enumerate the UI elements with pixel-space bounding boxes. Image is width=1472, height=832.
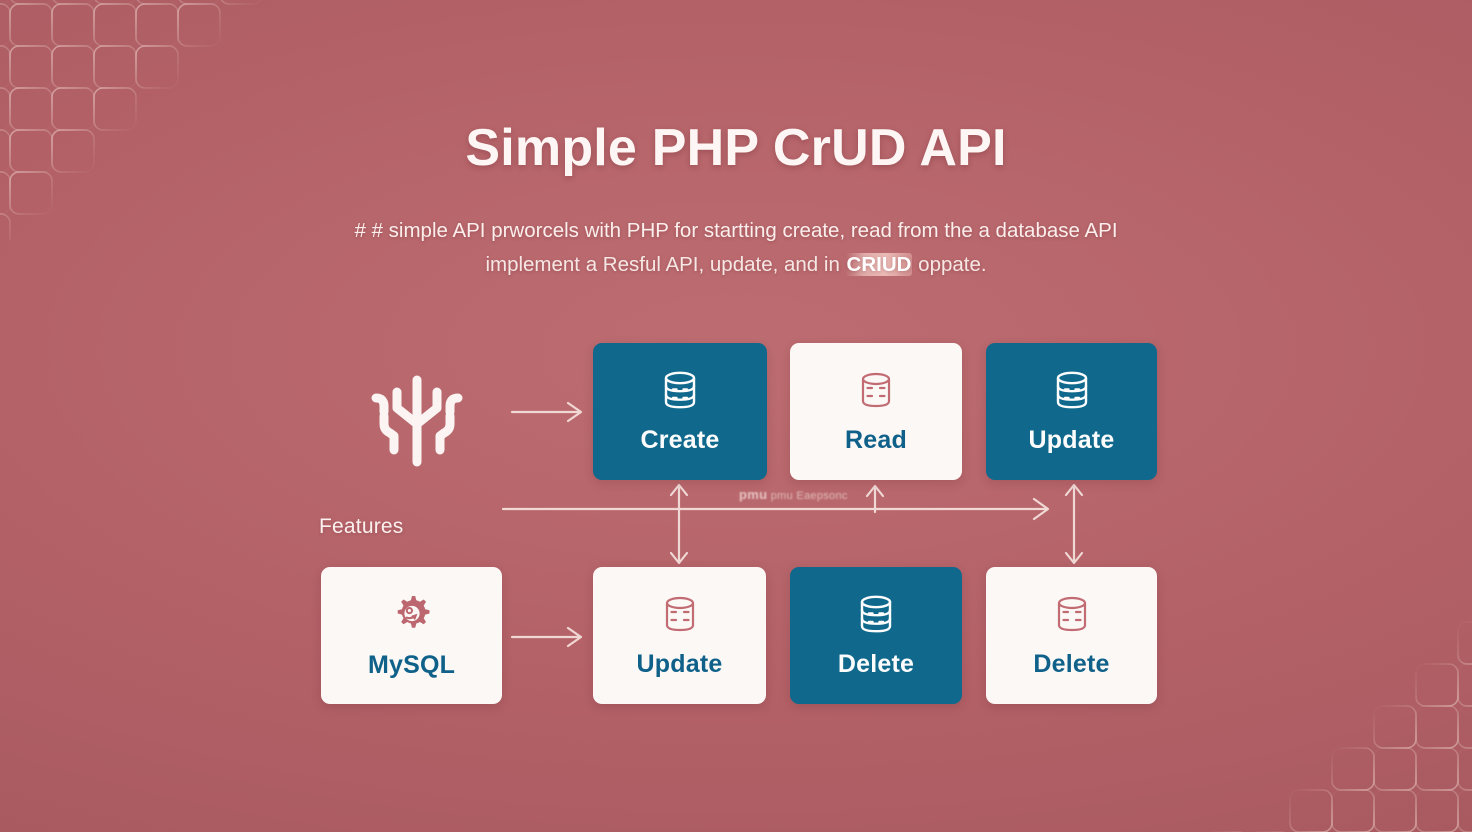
card-label: Read [845,426,907,455]
database-icon [854,592,898,636]
gear-icon [389,591,435,637]
database-icon [1050,592,1094,636]
card-label: MySQL [368,651,455,680]
database-icon [658,368,702,412]
card-label: Delete [838,650,914,679]
card-label: Create [640,426,719,455]
card-label: Delete [1033,650,1109,679]
card-mysql[interactable]: MySQL [321,567,502,704]
ghost-annotation: pmu pmu Eaepsonc [739,487,848,502]
card-delete-teal[interactable]: Delete [790,567,962,704]
ghost-annotation-text: pmu Eaepsonc [771,490,848,502]
database-icon [854,368,898,412]
card-create[interactable]: Create [593,343,767,480]
card-read[interactable]: Read [790,343,962,480]
features-label: Features [319,515,403,539]
crud-flow-diagram: Features [0,0,1472,832]
database-icon [1050,368,1094,412]
card-label: Update [1029,426,1115,455]
card-label: Update [637,650,723,679]
card-update-top[interactable]: Update [986,343,1157,480]
slide-canvas: Simple PHP CrUD API # # simple API prwor… [0,0,1472,832]
card-update-bottom[interactable]: Update [593,567,766,704]
database-icon [658,592,702,636]
card-delete-light[interactable]: Delete [986,567,1157,704]
fork-branch-icon [364,372,470,470]
